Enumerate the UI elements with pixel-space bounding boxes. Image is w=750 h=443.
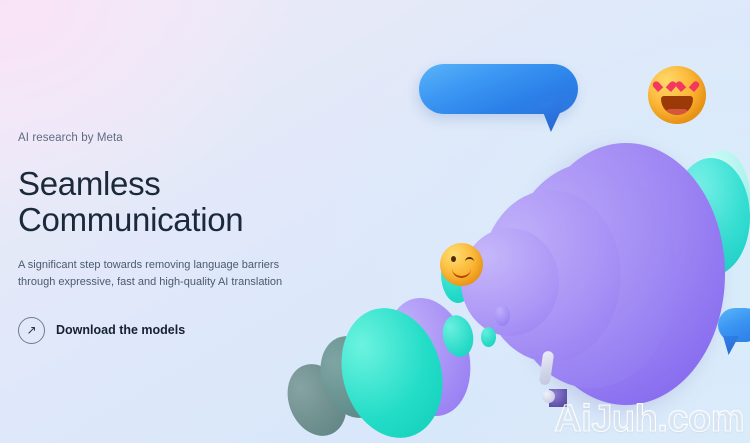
watermark: AiJuh.com xyxy=(554,398,744,441)
emoji-open-mouth xyxy=(661,96,693,115)
winking-emoji-face xyxy=(440,243,483,286)
speech-bubble-small-tail xyxy=(723,336,739,355)
page-subtitle: A significant step towards removing lang… xyxy=(18,257,303,290)
arrow-up-right-icon[interactable]: ↗ xyxy=(18,317,45,344)
heart-eye-right-icon xyxy=(681,82,694,94)
heart-eyes-emoji xyxy=(648,66,706,124)
eyebrow-text: AI research by Meta xyxy=(18,132,303,144)
speech-bubble-large-tail xyxy=(539,102,565,132)
winking-emoji xyxy=(440,243,483,286)
emoji-eye-left xyxy=(451,256,456,262)
heart-eye-left-icon xyxy=(658,82,671,94)
page-title: Seamless Communication xyxy=(18,166,303,237)
teal-dot-shape xyxy=(481,327,496,347)
hero-content: AI research by Meta Seamless Communicati… xyxy=(18,132,303,344)
heart-eyes-emoji-face xyxy=(648,66,706,124)
download-models-button[interactable]: ↗ Download the models xyxy=(18,317,185,344)
page-title-line1: Seamless xyxy=(18,165,161,202)
hero-banner: AI research by Meta Seamless Communicati… xyxy=(0,0,750,443)
page-title-line2: Communication xyxy=(18,201,243,238)
emoji-smile xyxy=(452,263,471,278)
purple-dot-shape xyxy=(495,305,510,326)
download-models-label: Download the models xyxy=(56,323,185,337)
page-subtitle-line2: expressive, fast and high-quality AI tra… xyxy=(58,276,282,288)
